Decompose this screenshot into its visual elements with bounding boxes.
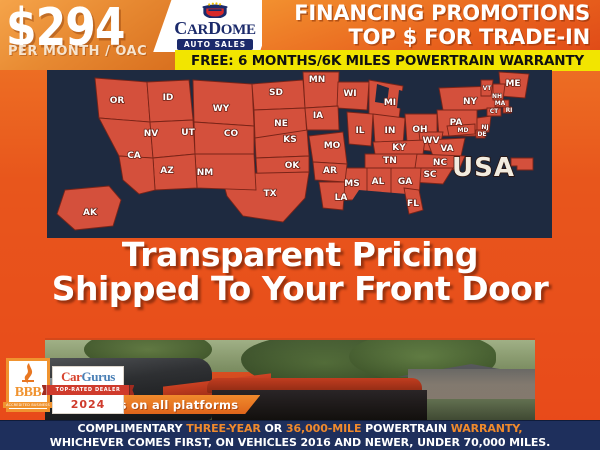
svg-text:IN: IN: [385, 126, 396, 136]
logo-tagline: AUTO SALES: [177, 39, 253, 50]
svg-text:OH: OH: [412, 125, 427, 135]
svg-text:AL: AL: [372, 177, 385, 187]
svg-text:NY: NY: [463, 97, 478, 107]
svg-text:KY: KY: [392, 143, 406, 153]
logo-wordmark: CARDOME: [174, 19, 255, 38]
svg-text:NV: NV: [144, 129, 159, 139]
cargurus-badge[interactable]: CarGurus TOP-RATED DEALER 2024: [52, 366, 124, 414]
cargurus-year: 2024: [71, 398, 106, 411]
svg-text:NJ: NJ: [481, 124, 488, 131]
dealer-ad-banner: $294 PER MONTH / OAC FINANCING PROMOTION…: [0, 0, 600, 450]
bbb-subtext: ACCREDITED BUSINESS: [3, 402, 53, 408]
svg-text:MN: MN: [309, 75, 326, 85]
svg-text:MI: MI: [384, 98, 396, 108]
svg-text:NH: NH: [492, 93, 502, 100]
svg-text:TN: TN: [383, 156, 397, 166]
footer-line-2: WHICHEVER COMES FIRST, ON VEHICLES 2016 …: [50, 436, 550, 449]
svg-text:VT: VT: [483, 85, 493, 92]
svg-text:AK: AK: [83, 208, 98, 218]
usa-map-panel: OR ID WY SD NE MN WI MI IA NV UT CO KS M…: [47, 70, 552, 238]
footer-seg-warranty: WARRANTY,: [451, 422, 523, 435]
promo-block: FINANCING PROMOTIONS TOP $ FOR TRADE-IN: [262, 0, 600, 52]
svg-text:UT: UT: [181, 128, 195, 138]
svg-text:MA: MA: [495, 100, 506, 107]
footer-disclaimer: COMPLIMENTARY THREE-YEAR OR 36,000-MILE …: [0, 420, 600, 450]
price-terms: PER MONTH / OAC: [8, 44, 147, 59]
bbb-letters: BBB: [15, 386, 42, 400]
warranty-bar: FREE: 6 MONTHS/6K MILES POWERTRAIN WARRA…: [175, 50, 600, 71]
logo-ar: AR: [187, 22, 208, 38]
promo-line-2: TOP $ FOR TRADE-IN: [348, 25, 590, 49]
cardome-logo[interactable]: CARDOME AUTO SALES: [163, 2, 267, 50]
svg-text:AZ: AZ: [160, 166, 174, 176]
warranty-bar-text: FREE: 6 MONTHS/6K MILES POWERTRAIN WARRA…: [191, 53, 584, 69]
svg-text:WY: WY: [213, 104, 230, 114]
logo-ome: OME: [221, 22, 256, 38]
svg-text:FL: FL: [407, 199, 419, 209]
footer-seg-a: COMPLIMENTARY: [78, 422, 187, 435]
svg-text:SD: SD: [269, 88, 283, 98]
svg-text:MS: MS: [344, 179, 359, 189]
usa-map: OR ID WY SD NE MN WI MI IA NV UT CO KS M…: [47, 70, 552, 238]
footer-line-1: COMPLIMENTARY THREE-YEAR OR 36,000-MILE …: [78, 422, 523, 435]
svg-text:MO: MO: [324, 141, 341, 151]
footer-seg-three-year: THREE-YEAR: [186, 422, 261, 435]
footer-seg-e: POWERTRAIN: [361, 422, 450, 435]
svg-text:MD: MD: [458, 127, 469, 134]
headline: Transparent Pricing Shipped To Your Fron…: [0, 238, 600, 306]
header-bar: $294 PER MONTH / OAC FINANCING PROMOTION…: [0, 0, 600, 70]
promo-line-1: FINANCING PROMOTIONS: [294, 1, 590, 25]
shield-crest-icon: [195, 2, 235, 18]
svg-text:IL: IL: [355, 126, 364, 136]
svg-text:CO: CO: [224, 129, 239, 139]
svg-text:RI: RI: [506, 107, 513, 114]
headline-line-1: Transparent Pricing: [0, 238, 600, 272]
svg-text:WV: WV: [423, 136, 440, 146]
footer-seg-c: OR: [261, 422, 286, 435]
svg-text:ID: ID: [163, 93, 174, 103]
svg-text:NC: NC: [433, 158, 448, 168]
svg-text:LA: LA: [335, 193, 348, 203]
usa-label: USA: [452, 153, 515, 183]
svg-text:KS: KS: [283, 135, 296, 145]
svg-text:AR: AR: [323, 166, 337, 176]
svg-text:CT: CT: [490, 108, 499, 115]
svg-text:DE: DE: [477, 131, 486, 138]
cargurus-ribbon: TOP-RATED DEALER: [47, 385, 130, 395]
logo-d: D: [208, 18, 221, 38]
svg-text:NE: NE: [274, 119, 288, 129]
svg-text:IA: IA: [313, 111, 323, 121]
svg-text:CA: CA: [127, 151, 141, 161]
logo-c: C: [174, 18, 187, 38]
svg-text:GA: GA: [398, 177, 412, 187]
cargurus-wordmark: CarGurus: [61, 370, 115, 383]
svg-text:WI: WI: [343, 89, 356, 99]
headline-line-2: Shipped To Your Front Door: [0, 272, 600, 306]
bbb-flame-icon: [20, 363, 36, 385]
price-block: $294 PER MONTH / OAC: [0, 0, 175, 70]
svg-text:TX: TX: [263, 189, 276, 199]
cargurus-car: Car: [61, 369, 81, 384]
svg-text:NM: NM: [197, 168, 214, 178]
svg-text:OR: OR: [110, 96, 125, 106]
svg-text:SC: SC: [423, 170, 436, 180]
svg-text:OK: OK: [285, 161, 301, 171]
footer-seg-mileage: 36,000-MILE: [286, 422, 361, 435]
svg-text:ME: ME: [505, 79, 520, 89]
cargurus-gurus: Gurus: [82, 369, 115, 384]
